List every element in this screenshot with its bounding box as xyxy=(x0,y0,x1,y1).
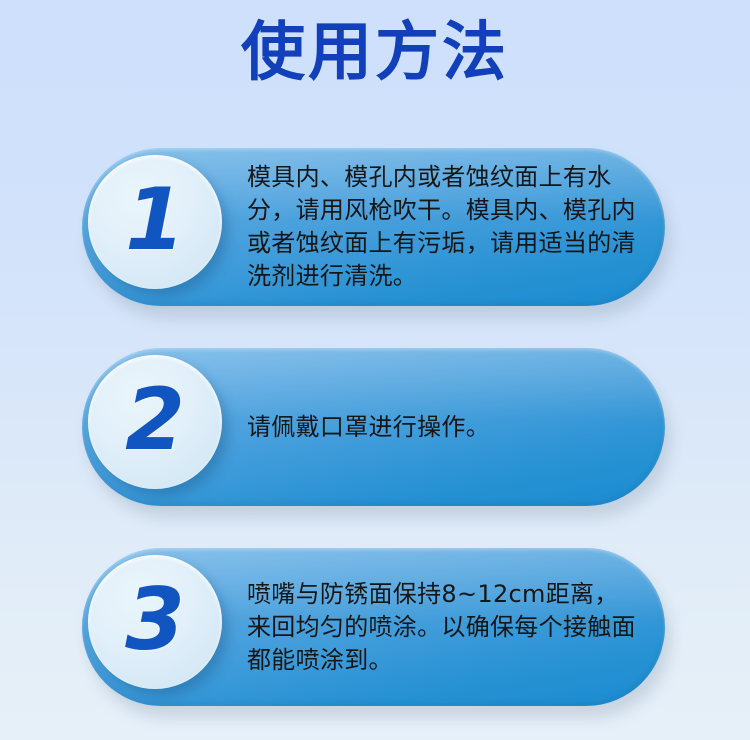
step-card: 2 请佩戴口罩进行操作。 xyxy=(82,348,665,506)
step-number-badge: 3 xyxy=(88,555,222,689)
step-number: 3 xyxy=(125,577,185,663)
step-text-container: 模具内、模孔内或者蚀纹面上有水分，请用风枪吹干。模具内、模孔内或者蚀纹面上有污垢… xyxy=(247,148,637,306)
step-text: 模具内、模孔内或者蚀纹面上有水分，请用风枪吹干。模具内、模孔内或者蚀纹面上有污垢… xyxy=(247,161,637,293)
step-card: 3 喷嘴与防锈面保持8~12cm距离，来回均匀的喷涂。以确保每个接触面都能喷涂到… xyxy=(82,548,665,706)
step-number-badge: 2 xyxy=(88,355,222,489)
step-number: 1 xyxy=(125,177,185,263)
step-number: 2 xyxy=(125,377,185,463)
step-text-container: 请佩戴口罩进行操作。 xyxy=(247,348,637,506)
step-text-container: 喷嘴与防锈面保持8~12cm距离，来回均匀的喷涂。以确保每个接触面都能喷涂到。 xyxy=(247,548,637,706)
steps-list: 1 模具内、模孔内或者蚀纹面上有水分，请用风枪吹干。模具内、模孔内或者蚀纹面上有… xyxy=(0,0,750,740)
step-card: 1 模具内、模孔内或者蚀纹面上有水分，请用风枪吹干。模具内、模孔内或者蚀纹面上有… xyxy=(82,148,665,306)
step-text: 请佩戴口罩进行操作。 xyxy=(247,411,637,444)
instructions-poster: 使用方法 1 模具内、模孔内或者蚀纹面上有水分，请用风枪吹干。模具内、模孔内或者… xyxy=(0,0,750,740)
step-number-badge: 1 xyxy=(88,155,222,289)
step-text: 喷嘴与防锈面保持8~12cm距离，来回均匀的喷涂。以确保每个接触面都能喷涂到。 xyxy=(247,578,637,677)
